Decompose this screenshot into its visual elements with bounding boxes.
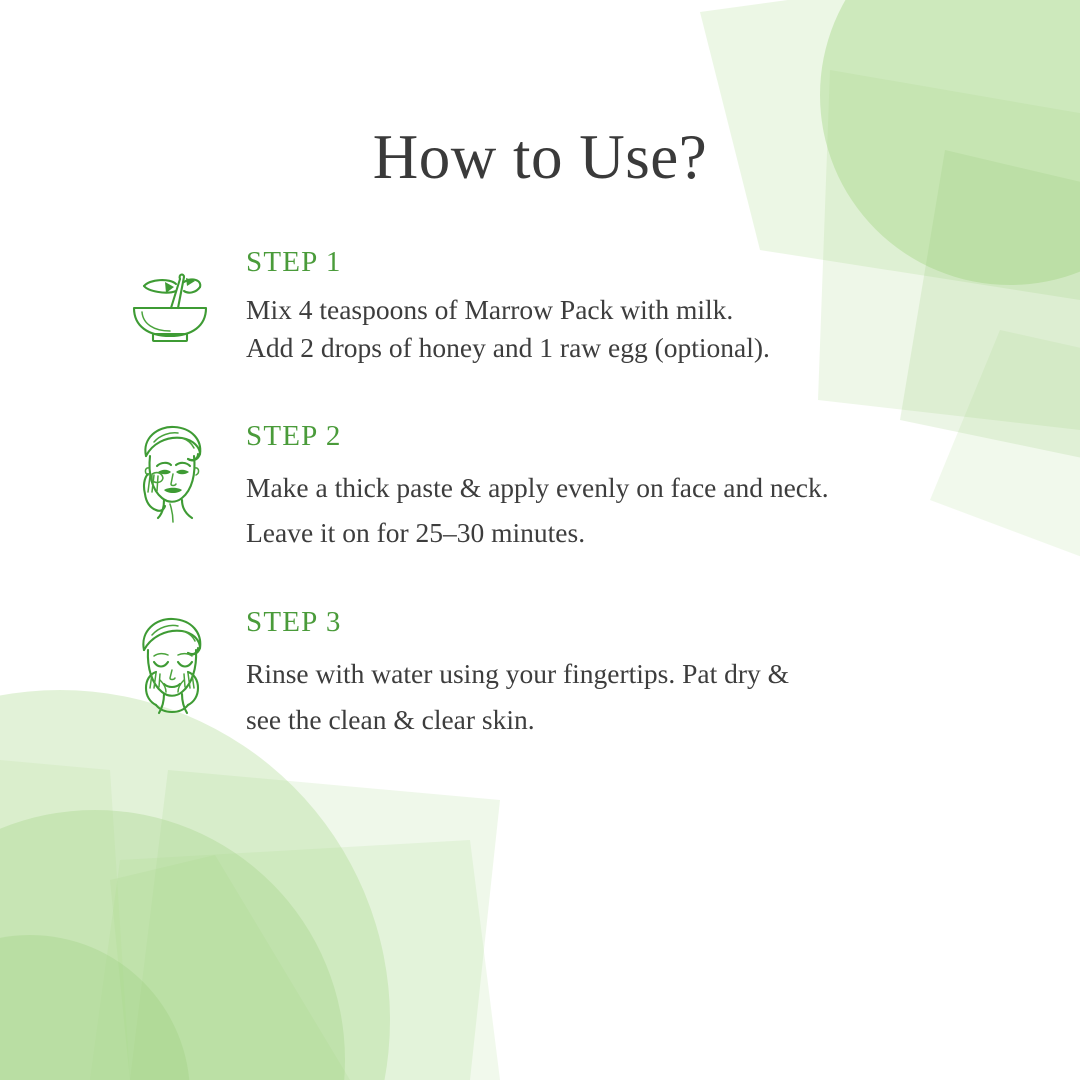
poster-canvas: How to Use? xyxy=(0,0,1080,1080)
step-text-2-line-1: Make a thick paste & apply evenly on fac… xyxy=(246,465,1080,510)
steps-list: STEP 1 Mix 4 teaspoons of Marrow Pack wi… xyxy=(0,248,1080,743)
step-content-1: STEP 1 Mix 4 teaspoons of Marrow Pack wi… xyxy=(218,248,1080,367)
step-label-1: STEP 1 xyxy=(246,248,1080,277)
mixing-bowl-icon xyxy=(122,248,218,344)
woman-washing-face-icon xyxy=(122,608,218,726)
step-content-2: STEP 2 Make a thick paste & apply evenly… xyxy=(218,422,1080,555)
step-text-1-line-1: Mix 4 teaspoons of Marrow Pack with milk… xyxy=(246,291,1080,329)
page-title: How to Use? xyxy=(0,126,1080,189)
step-text-1-line-2: Add 2 drops of honey and 1 raw egg (opti… xyxy=(246,329,1080,367)
woman-applying-mask-icon xyxy=(122,422,218,530)
step-item-2: STEP 2 Make a thick paste & apply evenly… xyxy=(122,422,1080,555)
step-label-2: STEP 2 xyxy=(246,422,1080,451)
step-content-3: STEP 3 Rinse with water using your finge… xyxy=(218,608,1080,743)
step-label-3: STEP 3 xyxy=(246,608,1080,637)
step-item-1: STEP 1 Mix 4 teaspoons of Marrow Pack wi… xyxy=(122,248,1080,367)
step-text-3-line-2: see the clean & clear skin. xyxy=(246,697,1080,743)
step-text-3-line-1: Rinse with water using your fingertips. … xyxy=(246,651,1080,697)
step-text-2-line-2: Leave it on for 25–30 minutes. xyxy=(246,510,1080,555)
decor-bottom-left xyxy=(0,690,500,1080)
step-item-3: STEP 3 Rinse with water using your finge… xyxy=(122,608,1080,743)
